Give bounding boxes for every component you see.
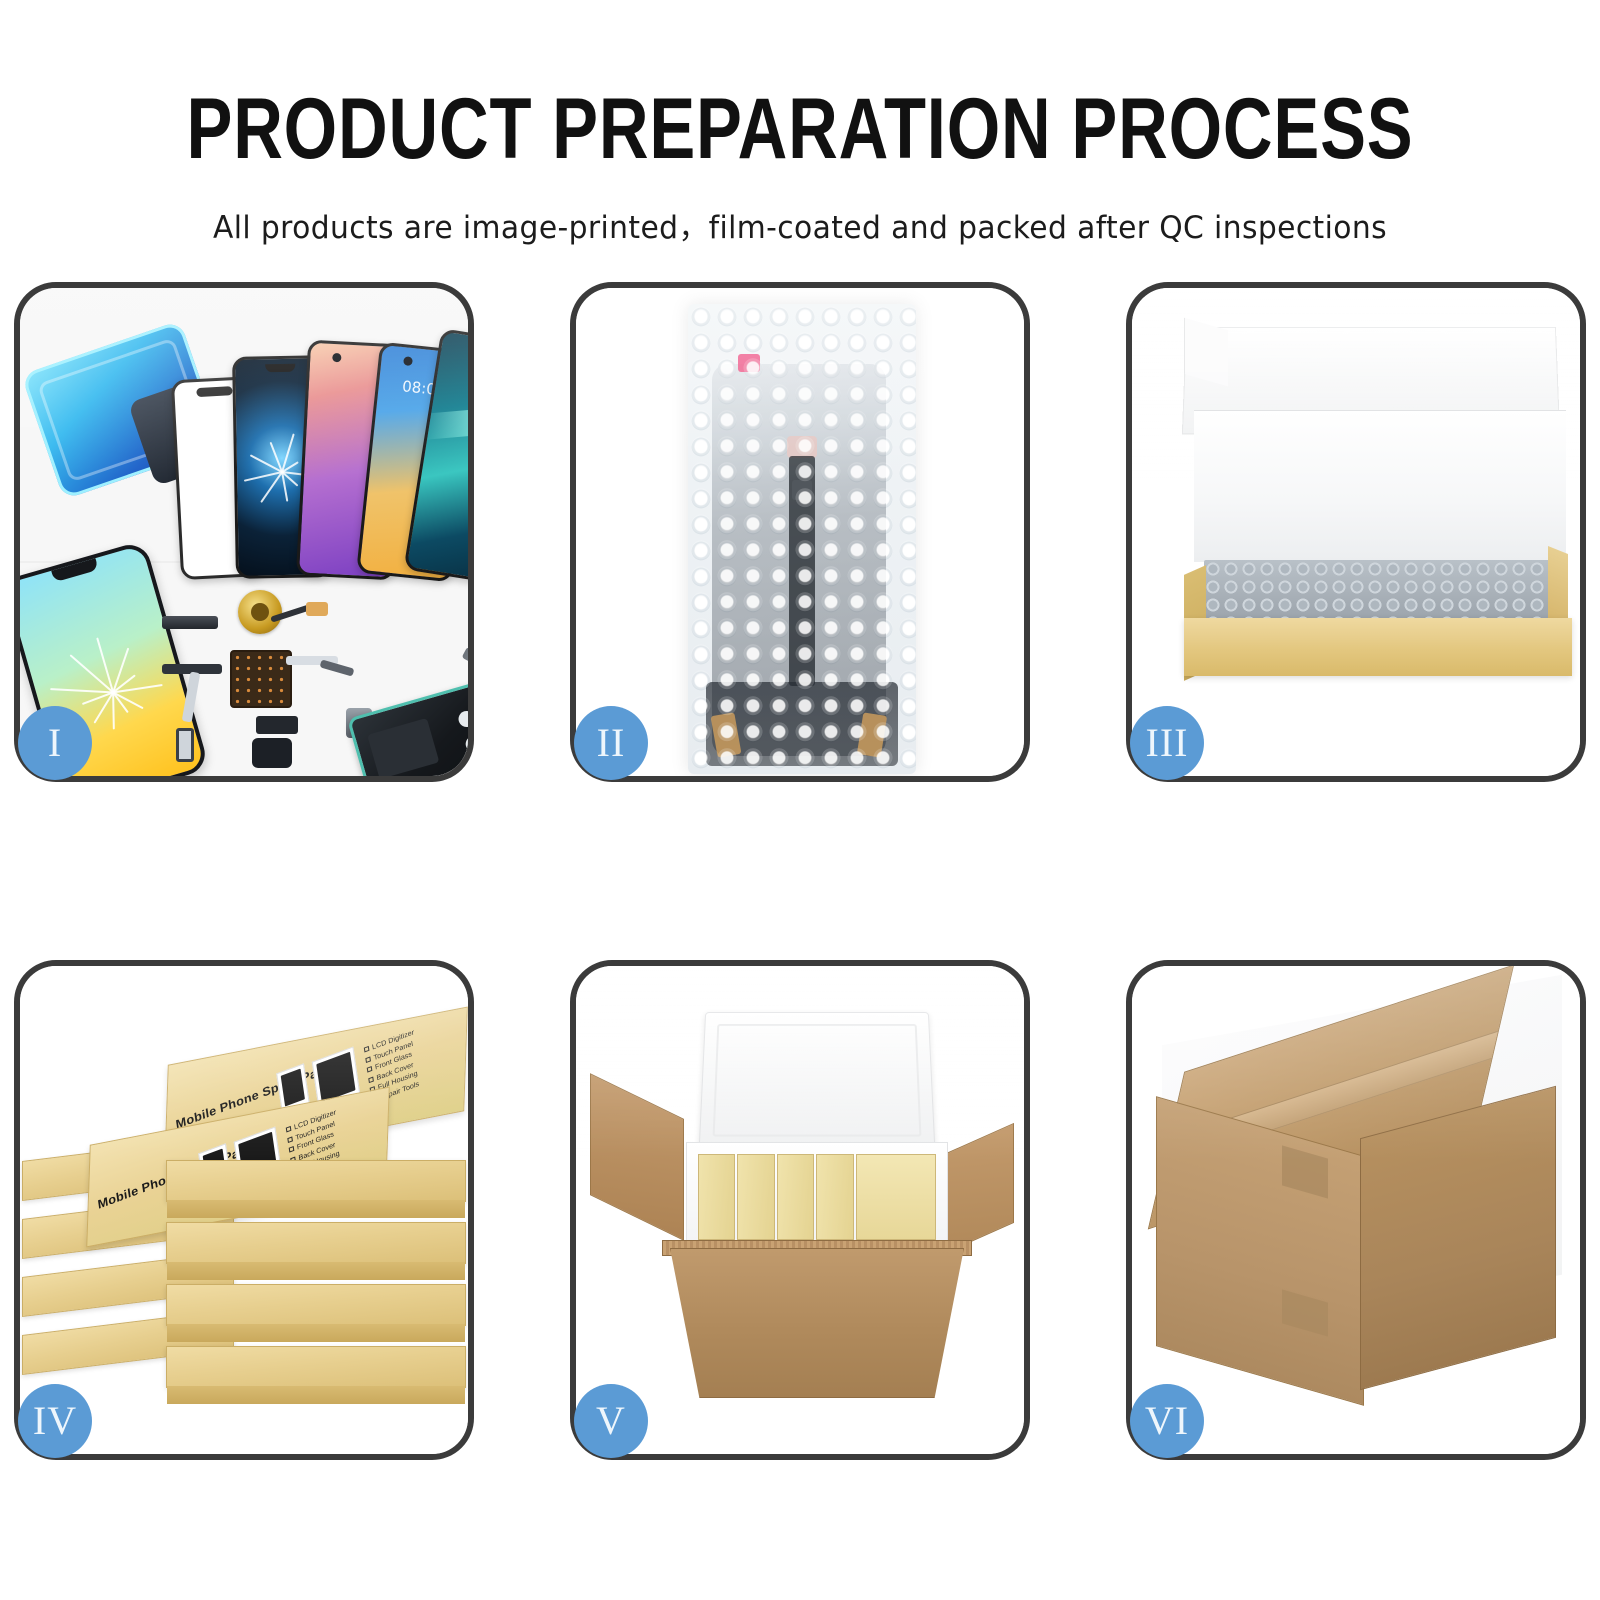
checkbox-icon	[367, 1066, 373, 1073]
packed-box	[737, 1154, 774, 1240]
bubble-wrap-sleeve	[688, 304, 916, 774]
camera-lens-icon	[457, 709, 468, 729]
checkbox-icon	[365, 1056, 371, 1063]
step-badge-6: VI	[1130, 1384, 1204, 1458]
step-4-image: Mobile Phone Spare Parts LCD Digitizer T…	[20, 966, 468, 1454]
packed-box-stack	[856, 1154, 936, 1240]
header: PRODUCT PREPARATION PROCESS All products…	[0, 0, 1600, 247]
process-row-top: 08:08	[0, 282, 1600, 782]
checkbox-icon	[286, 1126, 292, 1133]
screen-fan: 08:08	[172, 318, 468, 578]
earpiece-speaker-bar	[162, 616, 218, 629]
step-panel-6[interactable]: VI	[1126, 960, 1586, 1460]
notch-icon	[265, 364, 295, 373]
lcd-bottom-components	[706, 682, 898, 766]
checkbox-icon	[368, 1076, 374, 1083]
checkbox-icon	[289, 1146, 295, 1153]
page-subtitle: All products are image-printed，film-coat…	[32, 202, 1568, 247]
infographic-page: PRODUCT PREPARATION PROCESS All products…	[0, 0, 1600, 1600]
checkbox-icon	[287, 1136, 293, 1143]
step-panel-2[interactable]: II	[570, 282, 1030, 782]
process-row-bottom: Mobile Phone Spare Parts LCD Digitizer T…	[0, 960, 1600, 1460]
loose-components-group	[160, 588, 468, 776]
step-panel-5[interactable]: V	[570, 960, 1030, 1460]
punch-hole-camera-icon	[332, 353, 341, 362]
checkbox-icon	[364, 1046, 370, 1053]
gold-mailer-box	[1184, 618, 1572, 676]
step-2-image	[576, 288, 1024, 776]
step-panel-4[interactable]: Mobile Phone Spare Parts LCD Digitizer T…	[14, 960, 474, 1460]
stacked-box	[166, 1160, 466, 1202]
kraft-carton	[670, 1248, 964, 1398]
camera-module	[252, 738, 292, 768]
flex-cable-b	[286, 652, 356, 680]
foam-lid	[699, 1012, 936, 1150]
flex-cable-a	[270, 602, 332, 626]
carton-side-face	[1360, 1086, 1556, 1391]
camera-lens-icon	[464, 734, 468, 754]
stacked-box	[166, 1284, 466, 1326]
step-1-image: 08:08	[20, 288, 468, 776]
gold-box-stack: Mobile Phone Spare Parts LCD Digitizer T…	[20, 1010, 468, 1450]
page-title: PRODUCT PREPARATION PROCESS	[160, 86, 1440, 172]
stacked-box	[166, 1346, 466, 1388]
packed-box	[816, 1154, 853, 1240]
step-panel-1[interactable]: 08:08	[14, 282, 474, 782]
carton-flap-left	[590, 1073, 684, 1241]
process-grid: 08:08	[0, 282, 1600, 1460]
step-badge-5: V	[574, 1384, 648, 1458]
display-connector	[787, 436, 817, 458]
step-badge-1: I	[18, 706, 92, 780]
white-foam-sheet	[1194, 410, 1566, 562]
pink-qc-tab	[738, 354, 760, 372]
logic-board-back-housing	[347, 681, 468, 776]
sim-tray	[176, 728, 194, 762]
step-badge-4: IV	[18, 1384, 92, 1458]
step-badge-2: II	[574, 706, 648, 780]
step-5-image	[576, 966, 1024, 1454]
step-panel-3[interactable]: III	[1126, 282, 1586, 782]
display-flex-cable	[789, 456, 815, 686]
step-badge-3: III	[1130, 706, 1204, 780]
grey-bubble-wrap	[1204, 560, 1556, 622]
small-chip	[256, 716, 298, 734]
packed-box	[698, 1154, 735, 1240]
packed-box	[777, 1154, 814, 1240]
flex-cable-c	[162, 664, 246, 726]
stacked-box	[166, 1222, 466, 1264]
punch-hole-camera-icon	[403, 356, 413, 366]
step-3-image	[1132, 288, 1580, 776]
step-6-image	[1132, 966, 1580, 1454]
gold-boxes-rows	[698, 1154, 936, 1240]
